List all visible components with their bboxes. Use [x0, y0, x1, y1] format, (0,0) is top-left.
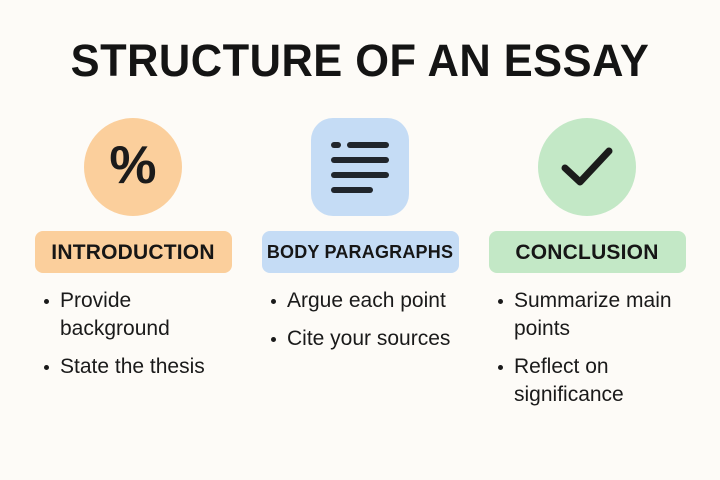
percent-glyph: % — [109, 139, 156, 192]
percent-icon: % — [84, 118, 182, 216]
text-line-row — [331, 157, 389, 163]
checkmark-icon — [538, 118, 636, 216]
text-lines-glyph — [331, 142, 389, 193]
text-line-row — [331, 172, 389, 178]
section-label-text: CONCLUSION — [515, 242, 658, 263]
section-label-introduction: INTRODUCTION — [35, 231, 232, 273]
list-item: Provide background — [42, 287, 229, 343]
bullet-list-body-paragraphs: Argue each point Cite your sources — [259, 287, 456, 353]
text-line-row — [331, 187, 389, 193]
bullet-list-conclusion: Summarize main points Reflect on signifi… — [486, 287, 683, 409]
sections-row: % INTRODUCTION Provide background State … — [32, 118, 688, 409]
text-line-row — [331, 142, 389, 148]
text-line-segment — [331, 172, 389, 178]
page-title: STRUCTURE OF AN ESSAY — [13, 33, 708, 89]
text-lines-icon — [311, 118, 409, 216]
bullet-list-introduction: Provide background State the thesis — [32, 287, 229, 381]
section-label-text: INTRODUCTION — [51, 242, 214, 263]
section-label-conclusion: CONCLUSION — [489, 231, 686, 273]
section-label-body-paragraphs: BODY PARAGRAPHS — [262, 231, 459, 273]
section-label-text: BODY PARAGRAPHS — [267, 243, 453, 261]
section-body-paragraphs: BODY PARAGRAPHS Argue each point Cite yo… — [259, 118, 461, 409]
text-line-segment — [347, 142, 389, 148]
list-item: Summarize main points — [496, 287, 683, 343]
checkmark-glyph — [561, 147, 613, 187]
list-item: Argue each point — [269, 287, 456, 315]
text-line-dash — [331, 142, 341, 148]
list-item: Reflect on significance — [496, 353, 683, 409]
essay-structure-infographic: STRUCTURE OF AN ESSAY % INTRODUCTION Pro… — [0, 0, 720, 480]
text-line-segment — [331, 157, 389, 163]
list-item: State the thesis — [42, 353, 229, 381]
section-conclusion: CONCLUSION Summarize main points Reflect… — [486, 118, 688, 409]
text-line-segment — [331, 187, 373, 193]
list-item: Cite your sources — [269, 325, 456, 353]
section-introduction: % INTRODUCTION Provide background State … — [32, 118, 234, 409]
